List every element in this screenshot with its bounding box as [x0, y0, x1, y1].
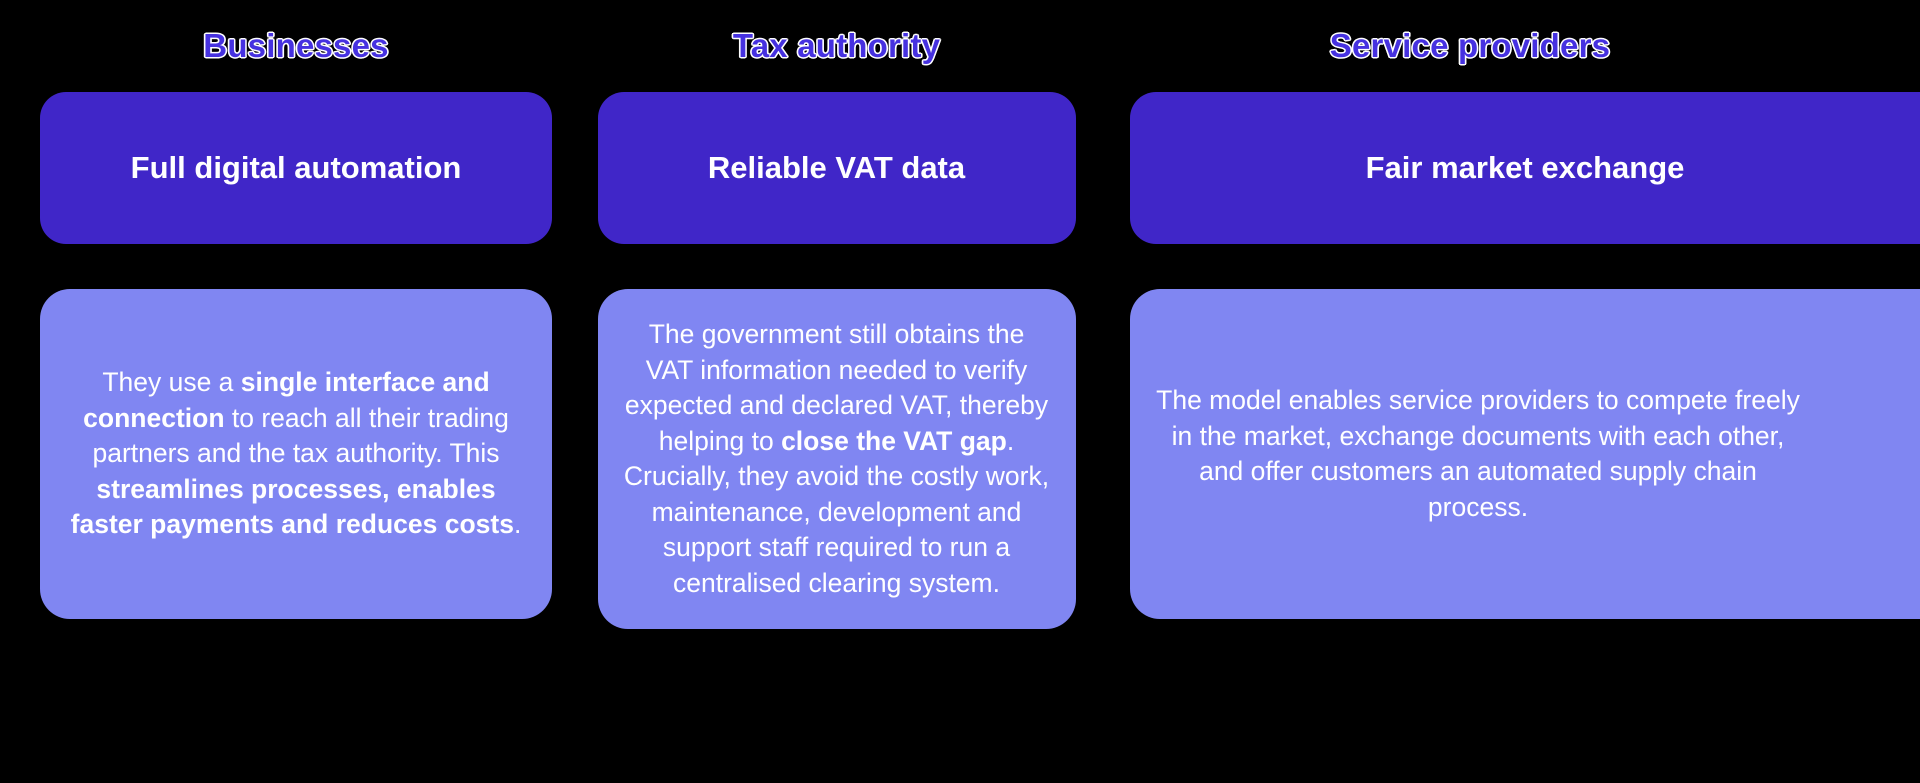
detail-text-tax-authority: The government still obtains the VAT inf… [624, 317, 1050, 601]
column-title-service-providers: Service providers [1130, 0, 1920, 92]
detail-text-service-providers: The model enables service providers to c… [1156, 383, 1800, 525]
column-title-businesses: Businesses [40, 0, 552, 92]
benefit-column-tax-authority: Tax authority Reliable VAT data The gove… [598, 0, 1076, 629]
headline-card-tax-authority: Reliable VAT data [598, 92, 1076, 244]
detail-card-tax-authority: The government still obtains the VAT inf… [598, 289, 1076, 629]
column-title-tax-authority: Tax authority [598, 0, 1076, 92]
benefit-column-businesses: Businesses Full digital automation They … [40, 0, 552, 619]
detail-text-businesses: They use a single interface and connecti… [66, 365, 526, 543]
headline-card-service-providers: Fair market exchange [1130, 92, 1920, 244]
detail-card-service-providers: The model enables service providers to c… [1130, 289, 1920, 619]
detail-card-businesses: They use a single interface and connecti… [40, 289, 552, 619]
benefit-column-service-providers: Service providers Fair market exchange T… [1130, 0, 1920, 619]
headline-card-businesses: Full digital automation [40, 92, 552, 244]
benefits-diagram: Businesses Full digital automation They … [0, 0, 1920, 783]
